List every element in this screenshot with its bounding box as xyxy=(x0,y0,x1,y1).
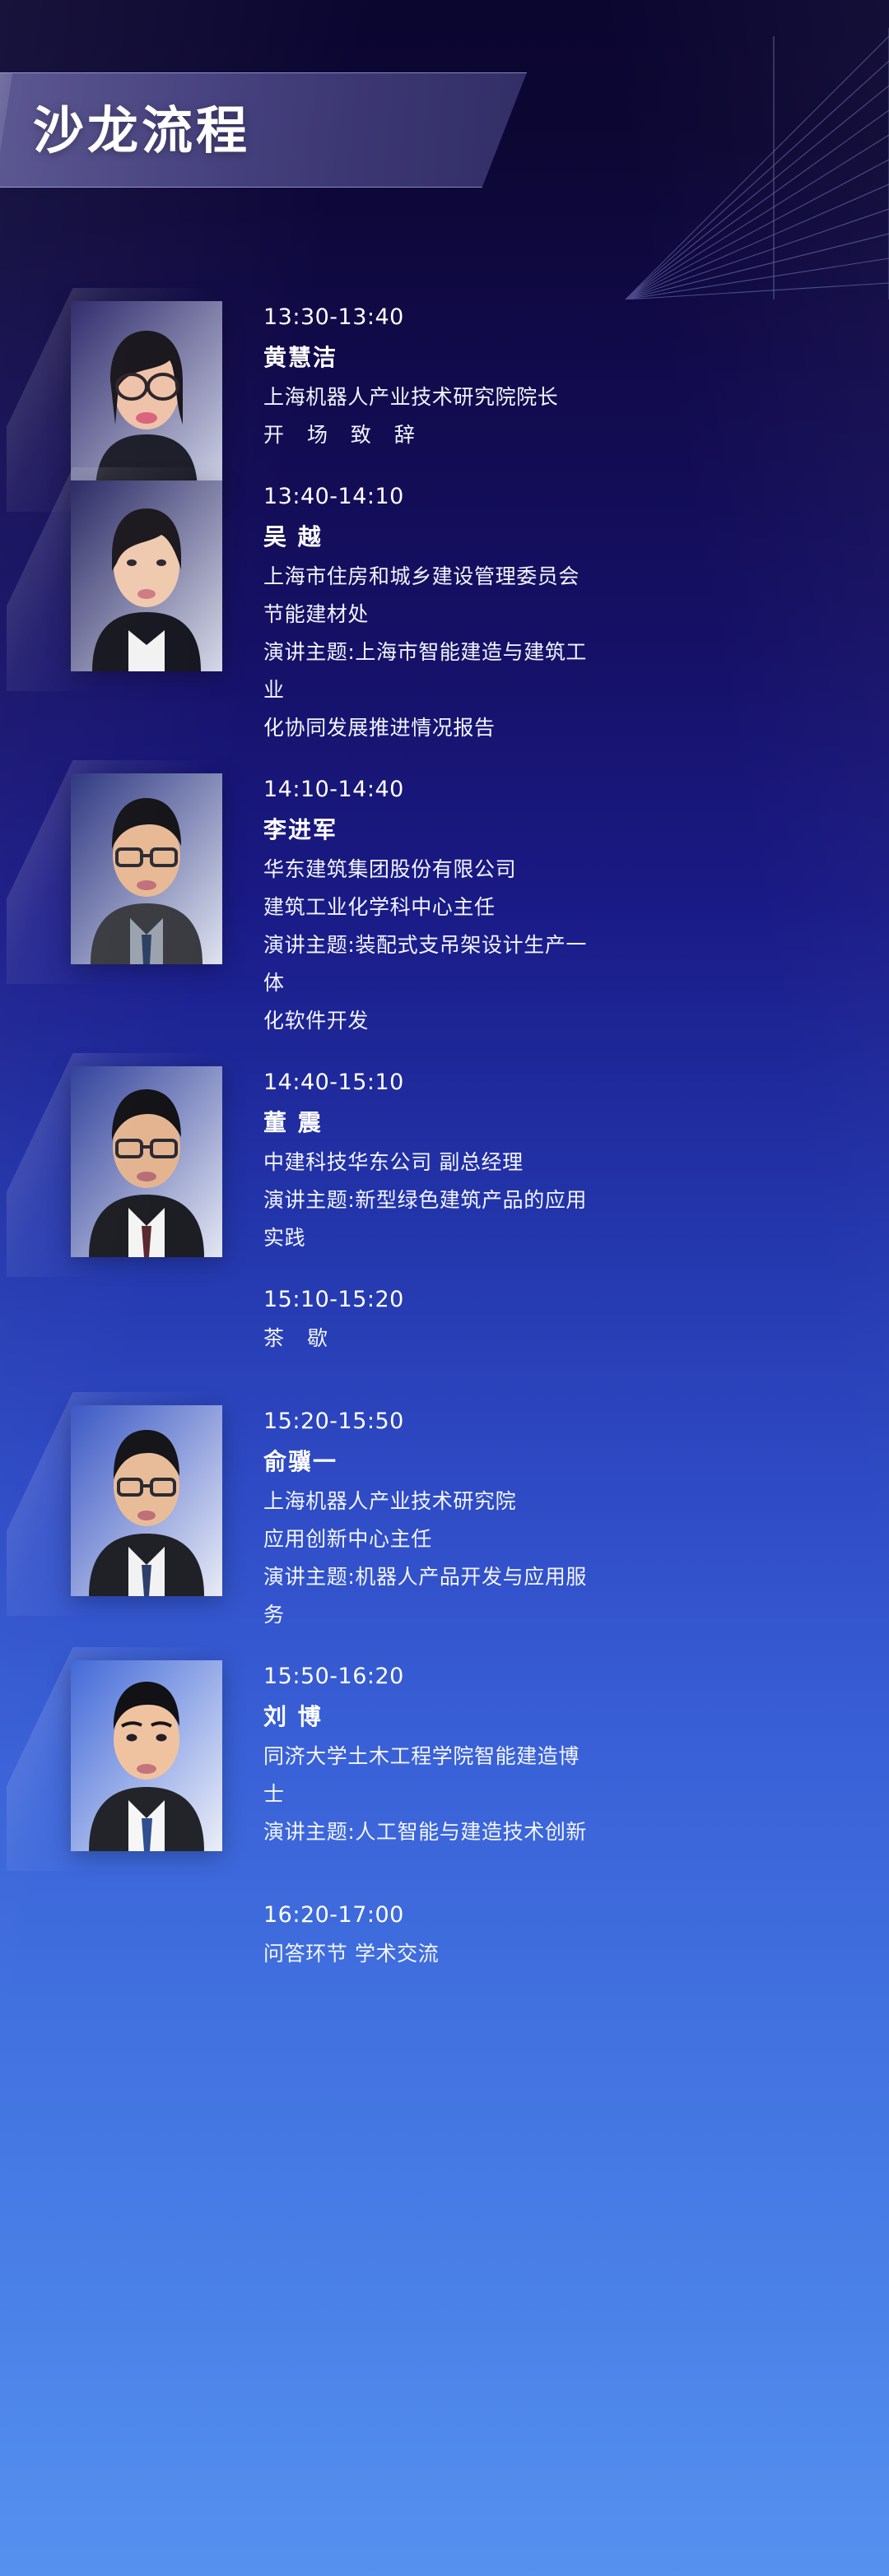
speaker-name: 俞骥一 xyxy=(263,1441,889,1483)
schedule-row: 14:10-14:40 李进军 华东建筑集团股份有限公司 建筑工业化学科中心主任… xyxy=(0,768,889,1040)
speaker-detail-line: 上海机器人产业技术研究院 xyxy=(263,1483,593,1520)
speaker-topic-line: 演讲主题:机器人产品开发与应用服务 xyxy=(263,1558,593,1634)
schedule-row: 13:40-14:10 吴 越 上海市住房和城乡建设管理委员会 节能建材处 演讲… xyxy=(0,476,889,747)
speaker-photo-column xyxy=(0,768,255,1040)
schedule-row: 15:50-16:20 刘 博 同济大学土木工程学院智能建造博士 演讲主题:人工… xyxy=(0,1655,889,1851)
session-time: 14:10-14:40 xyxy=(263,770,889,810)
session-time: 15:50-16:20 xyxy=(263,1657,889,1696)
row-spacer xyxy=(0,1358,889,1379)
speaker-portrait-3 xyxy=(71,773,222,964)
speaker-name: 李进军 xyxy=(263,810,889,851)
speaker-topic-line: 演讲主题:装配式支吊架设计生产一体 xyxy=(263,926,593,1002)
speaker-topic-line: 演讲主题:新型绿色建筑产品的应用 xyxy=(263,1181,593,1219)
speaker-photo-frame xyxy=(71,1066,222,1257)
speaker-detail-line: 节能建材处 xyxy=(263,596,593,634)
speaker-photo-column xyxy=(0,296,255,454)
speaker-photo-column xyxy=(0,1655,255,1851)
schedule-list: 13:30-13:40 黄慧洁 上海机器人产业技术研究院院长 开 场 致 辞 xyxy=(0,296,889,1973)
speaker-name: 吴 越 xyxy=(263,517,889,558)
session-label: 茶 歇 xyxy=(263,1320,593,1358)
speaker-portrait-4 xyxy=(71,1066,222,1257)
schedule-row-qa: 16:20-17:00 问答环节 学术交流 xyxy=(0,1894,889,1973)
speaker-photo-frame xyxy=(71,1405,222,1596)
speaker-text-column: 13:30-13:40 黄慧洁 上海机器人产业技术研究院院长 开 场 致 辞 xyxy=(255,296,889,454)
session-time: 15:10-15:20 xyxy=(263,1280,889,1320)
speaker-text-column: 15:50-16:20 刘 博 同济大学土木工程学院智能建造博士 演讲主题:人工… xyxy=(255,1655,889,1851)
speaker-text-column: 15:10-15:20 茶 歇 xyxy=(255,1279,889,1358)
speaker-portrait-2 xyxy=(71,480,222,671)
schedule-row: 13:30-13:40 黄慧洁 上海机器人产业技术研究院院长 开 场 致 辞 xyxy=(0,296,889,454)
radiating-lines-decoration xyxy=(502,28,889,299)
schedule-row: 15:20-15:50 俞骥一 上海机器人产业技术研究院 应用创新中心主任 演讲… xyxy=(0,1400,889,1634)
speaker-detail-line: 同济大学土木工程学院智能建造博士 xyxy=(263,1738,593,1813)
speaker-topic-line: 演讲主题:人工智能与建造技术创新 xyxy=(263,1813,593,1851)
speaker-text-column: 14:40-15:10 董 震 中建科技华东公司 副总经理 演讲主题:新型绿色建… xyxy=(255,1061,889,1257)
speaker-topic-line: 化协同发展推进情况报告 xyxy=(263,709,593,747)
session-label: 问答环节 学术交流 xyxy=(263,1935,593,1973)
speaker-detail-line: 上海机器人产业技术研究院院长 xyxy=(263,378,593,416)
schedule-row-break: 15:10-15:20 茶 歇 xyxy=(0,1279,889,1358)
speaker-photo-frame xyxy=(71,480,222,671)
speaker-detail-line: 上海市住房和城乡建设管理委员会 xyxy=(263,558,593,596)
speaker-text-column: 15:20-15:50 俞骥一 上海机器人产业技术研究院 应用创新中心主任 演讲… xyxy=(255,1400,889,1634)
schedule-row: 14:40-15:10 董 震 中建科技华东公司 副总经理 演讲主题:新型绿色建… xyxy=(0,1061,889,1257)
speaker-topic-line: 化软件开发 xyxy=(263,1002,593,1040)
speaker-photo-column xyxy=(0,1061,255,1257)
speaker-photo-frame xyxy=(71,1660,222,1851)
session-time: 15:20-15:50 xyxy=(263,1402,889,1441)
speaker-name: 董 震 xyxy=(263,1102,889,1144)
session-time: 16:20-17:00 xyxy=(263,1896,889,1935)
session-time: 13:30-13:40 xyxy=(263,298,889,337)
speaker-photo-column xyxy=(0,1400,255,1634)
speaker-detail-line: 中建科技华东公司 副总经理 xyxy=(263,1144,593,1181)
row-spacer xyxy=(0,1873,889,1894)
page-title: 沙龙流程 xyxy=(33,73,250,188)
speaker-detail-line: 华东建筑集团股份有限公司 xyxy=(263,851,593,889)
speaker-photo-column xyxy=(0,476,255,747)
speaker-photo-frame xyxy=(71,773,222,964)
session-time: 14:40-15:10 xyxy=(263,1063,889,1102)
speaker-name: 刘 博 xyxy=(263,1696,889,1738)
poster-page: 沙龙流程 xyxy=(0,0,889,2576)
speaker-name: 黄慧洁 xyxy=(263,337,889,378)
speaker-text-column: 14:10-14:40 李进军 华东建筑集团股份有限公司 建筑工业化学科中心主任… xyxy=(255,768,889,1040)
session-time: 13:40-14:10 xyxy=(263,477,889,517)
speaker-portrait-7 xyxy=(71,1660,222,1851)
speaker-photo-column xyxy=(0,1894,255,1902)
speaker-text-column: 16:20-17:00 问答环节 学术交流 xyxy=(255,1894,889,1973)
speaker-photo-column xyxy=(0,1279,255,1287)
speaker-text-column: 13:40-14:10 吴 越 上海市住房和城乡建设管理委员会 节能建材处 演讲… xyxy=(255,476,889,747)
title-banner: 沙龙流程 xyxy=(0,72,527,188)
speaker-portrait-6 xyxy=(71,1405,222,1596)
speaker-portrait-1 xyxy=(71,301,222,492)
speaker-topic-line: 演讲主题:上海市智能建造与建筑工业 xyxy=(263,634,593,709)
speaker-detail-line: 应用创新中心主任 xyxy=(263,1520,593,1558)
speaker-topic-line: 实践 xyxy=(263,1219,593,1257)
speaker-detail-line: 开 场 致 辞 xyxy=(263,416,593,454)
speaker-detail-line: 建筑工业化学科中心主任 xyxy=(263,889,593,926)
speaker-photo-frame xyxy=(71,301,222,492)
